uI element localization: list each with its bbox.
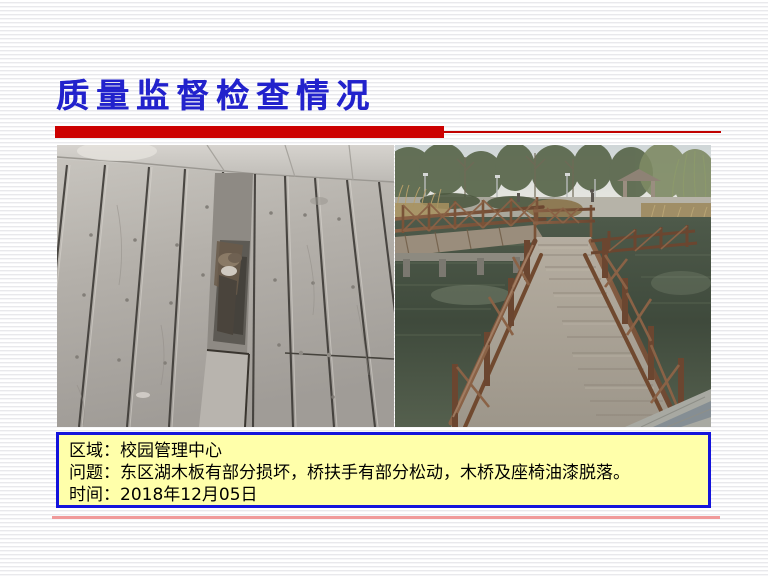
damaged-deck-illustration — [57, 145, 394, 427]
caption-area-line: 区域：校园管理中心 — [69, 440, 708, 462]
caption-issue-line: 问题：东区湖木板有部分损坏，桥扶手有部分松动，木桥及座椅油漆脱落。 — [69, 462, 708, 484]
bottom-rule — [52, 516, 720, 519]
inspection-caption-box: 区域：校园管理中心 问题：东区湖木板有部分损坏，桥扶手有部分松动，木桥及座椅油漆… — [56, 432, 711, 508]
wooden-bridge-illustration — [395, 145, 711, 427]
title-underline-thick — [55, 126, 444, 138]
caption-date-line: 时间：2018年12月05日 — [69, 484, 708, 506]
page-title: 质量监督检查情况 — [56, 74, 376, 118]
slide-canvas: 质量监督检查情况 — [0, 0, 768, 576]
photo-wooden-bridge-over-lake — [395, 145, 711, 427]
photo-damaged-wooden-deck — [57, 145, 394, 427]
